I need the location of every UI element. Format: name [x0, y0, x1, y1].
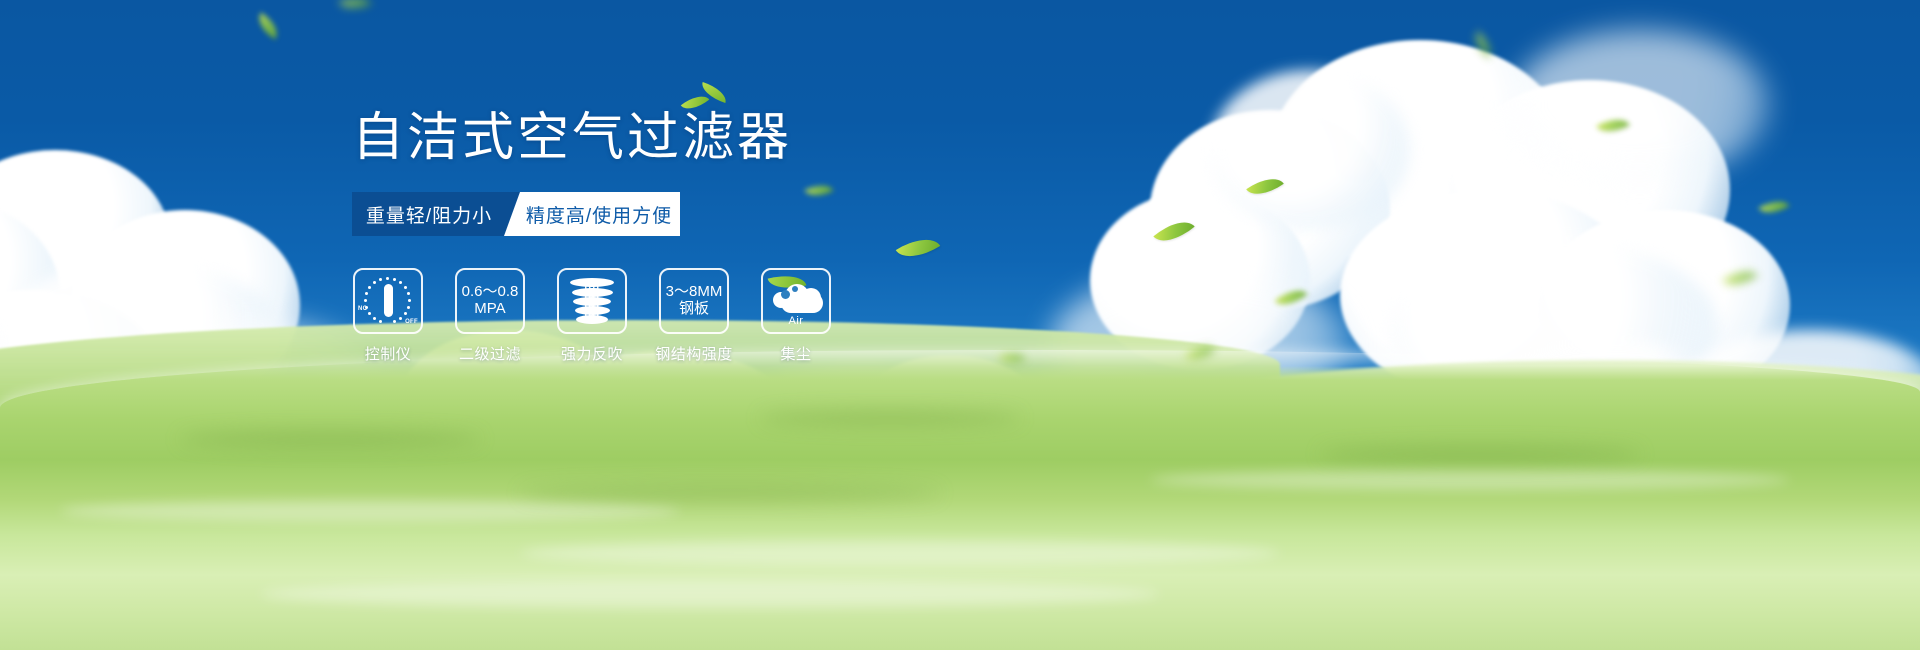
- pressure-icon: 0.6〜0.8 MPA: [462, 284, 519, 318]
- product-banner: 自洁式空气过滤器 重量轻/阻力小 精度高/使用方便: [0, 0, 1920, 650]
- steel-material: 钢板: [666, 301, 723, 318]
- badge-lightweight-label: 重量轻/阻力小: [366, 201, 492, 228]
- feature-controller-label: 控制仪: [365, 343, 412, 364]
- gauge-icon: NO OFF: [359, 275, 417, 327]
- feature-filtration-label: 二级过滤: [459, 343, 521, 364]
- feature-backblow-label: 强力反吹: [561, 343, 623, 364]
- feature-controller[interactable]: NO OFF 控制仪: [352, 268, 424, 364]
- gauge-off-label: OFF: [405, 319, 418, 325]
- pressure-value: 0.6〜0.8: [462, 284, 519, 301]
- pressure-unit: MPA: [462, 301, 519, 318]
- feature-controller-box: NO OFF: [353, 268, 423, 334]
- feature-steel-label: 钢结构强度: [655, 343, 733, 364]
- badge-precision-label: 精度高/使用方便: [526, 201, 672, 228]
- title-leaf-icon: [682, 84, 736, 118]
- feature-steel[interactable]: 3〜8MM 钢板 钢结构强度: [658, 268, 730, 364]
- feature-dust[interactable]: Air 集尘: [760, 268, 832, 364]
- feature-dust-label: 集尘: [780, 343, 811, 364]
- feature-backblow[interactable]: 强力反吹: [556, 268, 628, 364]
- air-label: Air: [767, 315, 825, 327]
- feature-filtration[interactable]: 0.6〜0.8 MPA 二级过滤: [454, 268, 526, 364]
- feature-steel-box: 3〜8MM 钢板: [659, 268, 729, 334]
- feature-dust-box: Air: [761, 268, 831, 334]
- steel-thickness: 3〜8MM: [666, 284, 723, 301]
- feature-filtration-box: 0.6〜0.8 MPA: [455, 268, 525, 334]
- gauge-no-label: NO: [358, 306, 368, 312]
- coil-blow-icon: [570, 277, 614, 325]
- steel-plate-icon: 3〜8MM 钢板: [666, 284, 723, 318]
- feature-backblow-box: [557, 268, 627, 334]
- badge-precision[interactable]: 精度高/使用方便: [504, 192, 680, 236]
- tagline-badges: 重量轻/阻力小 精度高/使用方便: [352, 192, 680, 236]
- air-cloud-icon: Air: [767, 277, 825, 325]
- page-title: 自洁式空气过滤器: [352, 112, 792, 164]
- feature-icon-row: NO OFF 控制仪 0.6〜0.8 MPA 二级过滤: [352, 268, 832, 364]
- title-block: 自洁式空气过滤器: [352, 112, 792, 164]
- badge-lightweight[interactable]: 重量轻/阻力小: [352, 192, 520, 236]
